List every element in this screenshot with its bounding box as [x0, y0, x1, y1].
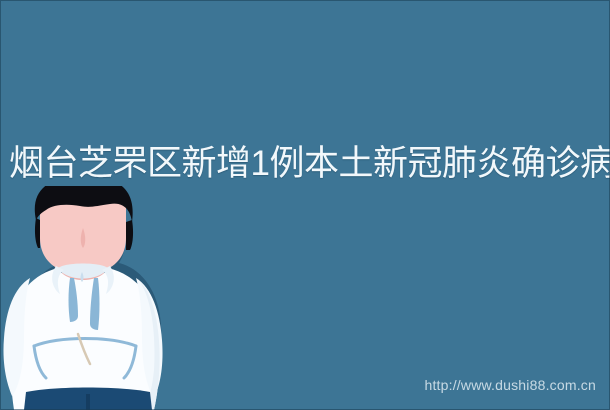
hair-sideburn-right [126, 220, 133, 250]
hair-sideburn-left [35, 218, 40, 248]
source-watermark: http://www.dushi88.com.cn [424, 377, 596, 393]
page-title: 烟台芝罘区新增1例本土新冠肺炎确诊病例 [9, 141, 605, 187]
person-illustration [0, 186, 190, 410]
image-canvas: 烟台芝罘区新增1例本土新冠肺炎确诊病例 http://www.dushi88.c… [0, 0, 610, 410]
pants-seam [86, 394, 90, 410]
